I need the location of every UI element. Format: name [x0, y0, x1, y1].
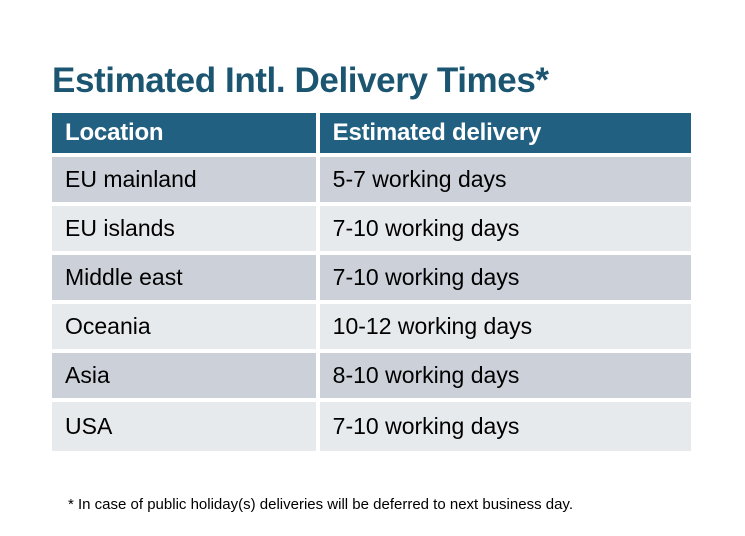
- page-title: Estimated Intl. Delivery Times*: [52, 59, 549, 103]
- cell-location: Middle east: [52, 255, 320, 304]
- cell-location: Asia: [52, 353, 320, 402]
- table-row: Oceania10-12 working days: [52, 304, 691, 353]
- delivery-times-table: Location Estimated delivery EU mainland5…: [52, 113, 691, 451]
- table-header-row: Location Estimated delivery: [52, 113, 691, 157]
- cell-location: Oceania: [52, 304, 320, 353]
- cell-location: USA: [52, 402, 320, 451]
- cell-estimated-delivery: 10-12 working days: [320, 304, 691, 353]
- table-header: Location Estimated delivery: [52, 113, 691, 157]
- table-row: EU mainland5-7 working days: [52, 157, 691, 206]
- table-body: EU mainland5-7 working daysEU islands7-1…: [52, 157, 691, 451]
- cell-estimated-delivery: 5-7 working days: [320, 157, 691, 206]
- cell-estimated-delivery: 7-10 working days: [320, 255, 691, 304]
- cell-location: EU mainland: [52, 157, 320, 206]
- table-row: Asia8-10 working days: [52, 353, 691, 402]
- cell-estimated-delivery: 8-10 working days: [320, 353, 691, 402]
- table-row: EU islands7-10 working days: [52, 206, 691, 255]
- cell-location: EU islands: [52, 206, 320, 255]
- table-row: Middle east7-10 working days: [52, 255, 691, 304]
- column-header-location: Location: [52, 113, 320, 157]
- cell-estimated-delivery: 7-10 working days: [320, 206, 691, 255]
- cell-estimated-delivery: 7-10 working days: [320, 402, 691, 451]
- footnote: * In case of public holiday(s) deliverie…: [68, 496, 573, 513]
- table-row: USA7-10 working days: [52, 402, 691, 451]
- column-header-estimated-delivery: Estimated delivery: [320, 113, 691, 157]
